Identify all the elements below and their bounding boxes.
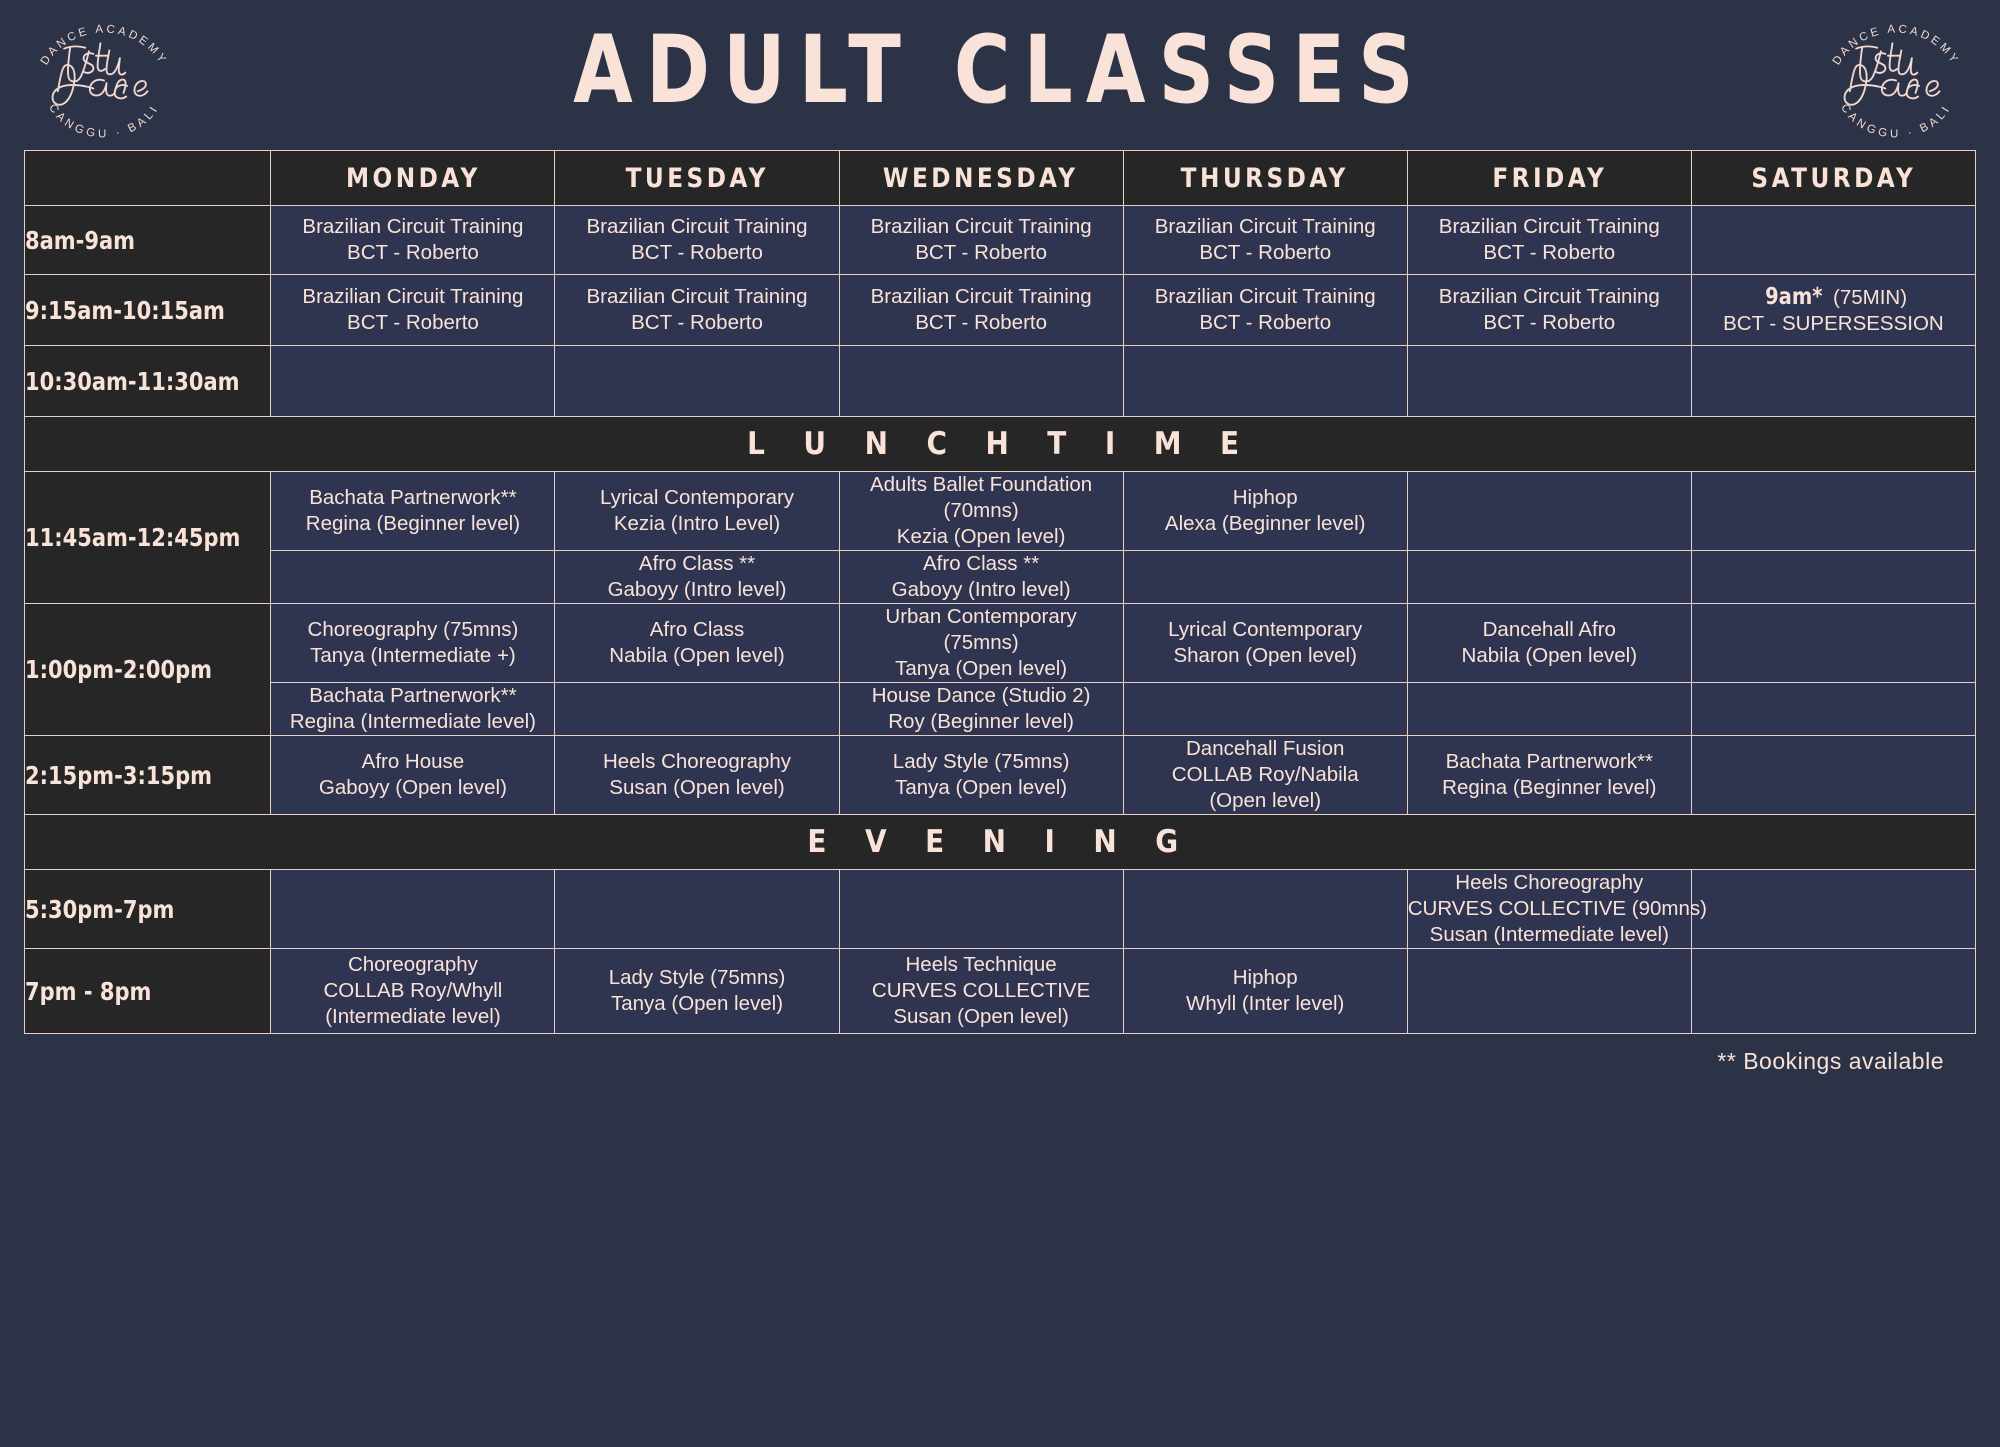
class-cell[interactable]: Lyrical ContemporarySharon (Open level) — [1123, 604, 1407, 683]
class-line: Alexa (Beginner level) — [1124, 511, 1407, 537]
class-cell[interactable]: Lady Style (75mns)Tanya (Open level) — [555, 949, 839, 1034]
time-label: 2:15pm-3:15pm — [25, 761, 212, 790]
class-cell[interactable]: Heels ChoreographySusan (Open level) — [555, 736, 839, 815]
class-cell[interactable]: Heels TechniqueCURVES COLLECTIVESusan (O… — [839, 949, 1123, 1034]
class-line: Sharon (Open level) — [1124, 643, 1407, 669]
svg-text:DANCE ACADEMY: DANCE ACADEMY — [1831, 23, 1962, 67]
class-cell[interactable]: Afro Class **Gaboyy (Intro level) — [555, 551, 839, 604]
class-cell[interactable]: Afro ClassNabila (Open level) — [555, 604, 839, 683]
class-cell-empty[interactable] — [839, 870, 1123, 949]
class-line: Brazilian Circuit Training — [1408, 284, 1691, 310]
class-cell[interactable]: HiphopWhyll (Inter level) — [1123, 949, 1407, 1034]
svg-text:DANCE ACADEMY: DANCE ACADEMY — [39, 23, 170, 67]
time-label: 11:45am-12:45pm — [25, 523, 240, 552]
class-cell[interactable]: Brazilian Circuit TrainingBCT - Roberto — [271, 206, 555, 275]
class-line: BCT - Roberto — [840, 310, 1123, 336]
class-line: Tanya (Open level) — [555, 991, 838, 1017]
class-cell[interactable]: Dancehall AfroNabila (Open level) — [1407, 604, 1691, 683]
class-cell-empty[interactable] — [1691, 949, 1975, 1034]
class-line: CURVES COLLECTIVE (90mns) — [1408, 896, 1691, 922]
class-cell-empty[interactable] — [555, 346, 839, 417]
class-cell[interactable]: Choreography (75mns)Tanya (Intermediate … — [271, 604, 555, 683]
time-label: 5:30pm-7pm — [25, 895, 174, 924]
class-line: (Intermediate level) — [271, 1004, 554, 1030]
schedule-row: 9:15am-10:15amBrazilian Circuit Training… — [25, 275, 1976, 346]
just-dance-logo-icon: DANCE ACADEMY CANGGU · BALI — [1806, 6, 1986, 148]
class-line: Regina (Intermediate level) — [271, 709, 554, 735]
day-header-label: SATURDAY — [1751, 163, 1916, 194]
class-cell[interactable]: House Dance (Studio 2)Roy (Beginner leve… — [839, 683, 1123, 736]
time-label-cell: 7pm - 8pm — [25, 949, 271, 1034]
class-cell[interactable]: Brazilian Circuit TrainingBCT - Roberto — [1123, 206, 1407, 275]
class-line: Kezia (Open level) — [840, 524, 1123, 550]
class-line: Heels Technique — [840, 952, 1123, 978]
schedule-row: 11:45am-12:45pmBachata Partnerwork**Regi… — [25, 472, 1976, 551]
bookings-footnote: ** Bookings available — [24, 1048, 1976, 1075]
class-cell[interactable]: Brazilian Circuit TrainingBCT - Roberto — [271, 275, 555, 346]
class-cell-empty[interactable] — [1123, 346, 1407, 417]
class-cell[interactable]: Brazilian Circuit TrainingBCT - Roberto — [555, 275, 839, 346]
class-line: Brazilian Circuit Training — [555, 214, 838, 240]
schedule-row: 5:30pm-7pmHeels ChoreographyCURVES COLLE… — [25, 870, 1976, 949]
time-label: 10:30am-11:30am — [25, 367, 240, 396]
class-cell[interactable]: Bachata Partnerwork**Regina (Beginner le… — [1407, 736, 1691, 815]
class-cell[interactable]: Urban Contemporary(75mns)Tanya (Open lev… — [839, 604, 1123, 683]
class-cell-empty[interactable] — [1691, 551, 1975, 604]
evening-banner-row: E V E N I N G — [25, 815, 1976, 870]
class-cell[interactable]: Brazilian Circuit TrainingBCT - Roberto — [1123, 275, 1407, 346]
class-line: Tanya (Open level) — [840, 656, 1123, 682]
class-line: Gaboyy (Intro level) — [840, 577, 1123, 603]
class-cell-empty[interactable] — [1407, 472, 1691, 551]
class-cell-empty[interactable] — [1691, 870, 1975, 949]
class-line: Nabila (Open level) — [1408, 643, 1691, 669]
class-line: Lady Style (75mns) — [555, 965, 838, 991]
time-label-cell: 9:15am-10:15am — [25, 275, 271, 346]
class-line: Tanya (Open level) — [840, 775, 1123, 801]
time-label: 8am-9am — [25, 226, 135, 255]
class-line: Brazilian Circuit Training — [840, 214, 1123, 240]
class-cell[interactable]: Lyrical ContemporaryKezia (Intro Level) — [555, 472, 839, 551]
class-line: BCT - SUPERSESSION — [1692, 311, 1975, 337]
day-header-label: WEDNESDAY — [883, 163, 1079, 194]
class-cell[interactable]: 9am* (75MIN)BCT - SUPERSESSION — [1691, 275, 1975, 346]
class-line: BCT - Roberto — [271, 310, 554, 336]
class-schedule-table: MONDAYTUESDAYWEDNESDAYTHURSDAYFRIDAYSATU… — [24, 150, 1976, 1034]
class-cell[interactable]: Brazilian Circuit TrainingBCT - Roberto — [839, 206, 1123, 275]
class-line: (Open level) — [1124, 788, 1407, 814]
day-header-saturday: SATURDAY — [1691, 151, 1975, 206]
class-line: Gaboyy (Intro level) — [555, 577, 838, 603]
day-header-label: MONDAY — [346, 163, 481, 194]
class-cell[interactable]: Lady Style (75mns)Tanya (Open level) — [839, 736, 1123, 815]
page-header: DANCE ACADEMY CANGGU · BALI ADULT CLASSE… — [0, 0, 2000, 150]
class-cell-empty[interactable] — [1691, 346, 1975, 417]
class-cell-empty[interactable] — [1407, 551, 1691, 604]
lunch-banner-label: L U N C H T I M E — [747, 426, 1253, 462]
class-line: Kezia (Intro Level) — [555, 511, 838, 537]
time-label-cell: 10:30am-11:30am — [25, 346, 271, 417]
class-cell-empty[interactable] — [271, 551, 555, 604]
class-line: Heels Choreography — [555, 749, 838, 775]
class-line: Choreography (75mns) — [271, 617, 554, 643]
class-line: BCT - Roberto — [1408, 310, 1691, 336]
day-header-friday: FRIDAY — [1407, 151, 1691, 206]
class-cell[interactable]: Adults Ballet Foundation(70mns)Kezia (Op… — [839, 472, 1123, 551]
class-line: Brazilian Circuit Training — [271, 284, 554, 310]
class-line: (70mns) — [840, 498, 1123, 524]
class-cell-empty[interactable] — [1691, 206, 1975, 275]
time-label-cell: 5:30pm-7pm — [25, 870, 271, 949]
class-line: Regina (Beginner level) — [1408, 775, 1691, 801]
class-line: Bachata Partnerwork** — [271, 683, 554, 709]
class-line: BCT - Roberto — [1408, 240, 1691, 266]
class-line: Roy (Beginner level) — [840, 709, 1123, 735]
class-line: BCT - Roberto — [1124, 240, 1407, 266]
class-cell-empty[interactable] — [1691, 472, 1975, 551]
time-label: 1:00pm-2:00pm — [25, 655, 212, 684]
schedule-row: 1:00pm-2:00pmChoreography (75mns)Tanya (… — [25, 604, 1976, 683]
saturday-special-time: 9am* — [1765, 284, 1822, 310]
day-header-label: THURSDAY — [1181, 163, 1349, 194]
class-cell[interactable]: Brazilian Circuit TrainingBCT - Roberto — [555, 206, 839, 275]
class-line: Bachata Partnerwork** — [271, 485, 554, 511]
class-cell[interactable]: Afro Class **Gaboyy (Intro level) — [839, 551, 1123, 604]
schedule-row: Afro Class **Gaboyy (Intro level)Afro Cl… — [25, 551, 1976, 604]
time-label-cell: 11:45am-12:45pm — [25, 472, 271, 604]
schedule-row: Bachata Partnerwork**Regina (Intermediat… — [25, 683, 1976, 736]
class-line: BCT - Roberto — [555, 240, 838, 266]
class-cell[interactable]: Brazilian Circuit TrainingBCT - Roberto — [839, 275, 1123, 346]
schedule-container: MONDAYTUESDAYWEDNESDAYTHURSDAYFRIDAYSATU… — [0, 150, 2000, 1075]
class-cell-empty[interactable] — [1407, 683, 1691, 736]
class-cell-empty[interactable] — [1407, 346, 1691, 417]
class-line: Brazilian Circuit Training — [555, 284, 838, 310]
schedule-row: 7pm - 8pmChoreographyCOLLAB Roy/Whyll(In… — [25, 949, 1976, 1034]
class-line: Afro Class ** — [555, 551, 838, 577]
class-line: Gaboyy (Open level) — [271, 775, 554, 801]
class-line: Brazilian Circuit Training — [271, 214, 554, 240]
class-line: Lyrical Contemporary — [1124, 617, 1407, 643]
class-line: Regina (Beginner level) — [271, 511, 554, 537]
day-header-wednesday: WEDNESDAY — [839, 151, 1123, 206]
class-line: (75mns) — [840, 630, 1123, 656]
time-label: 9:15am-10:15am — [25, 296, 225, 325]
class-line: Afro House — [271, 749, 554, 775]
class-cell-empty[interactable] — [271, 870, 555, 949]
time-label-cell: 1:00pm-2:00pm — [25, 604, 271, 736]
class-cell[interactable]: Dancehall FusionCOLLAB Roy/Nabila(Open l… — [1123, 736, 1407, 815]
lunch-time-banner: L U N C H T I M E — [25, 417, 1976, 472]
class-cell[interactable]: Heels ChoreographyCURVES COLLECTIVE (90m… — [1407, 870, 1691, 949]
class-cell[interactable]: Afro HouseGaboyy (Open level) — [271, 736, 555, 815]
class-cell-empty[interactable] — [555, 870, 839, 949]
class-line: Susan (Open level) — [555, 775, 838, 801]
class-cell-empty[interactable] — [1691, 604, 1975, 683]
class-line: Afro Class — [555, 617, 838, 643]
svg-text:CANGGU · BALI: CANGGU · BALI — [46, 102, 162, 140]
class-line: Susan (Intermediate level) — [1408, 922, 1691, 948]
class-line: Brazilian Circuit Training — [1124, 284, 1407, 310]
class-line: CURVES COLLECTIVE — [840, 978, 1123, 1004]
schedule-row: 10:30am-11:30am — [25, 346, 1976, 417]
day-header-thursday: THURSDAY — [1123, 151, 1407, 206]
time-label-cell: 2:15pm-3:15pm — [25, 736, 271, 815]
class-line: Urban Contemporary — [840, 604, 1123, 630]
evening-banner-label: E V E N I N G — [807, 824, 1192, 860]
class-line: BCT - Roberto — [271, 240, 554, 266]
class-line: COLLAB Roy/Whyll — [271, 978, 554, 1004]
class-cell-empty[interactable] — [1123, 870, 1407, 949]
time-label-cell: 8am-9am — [25, 206, 271, 275]
class-line: 9am* (75MIN) — [1692, 284, 1975, 311]
class-line: Brazilian Circuit Training — [1124, 214, 1407, 240]
class-line: Brazilian Circuit Training — [1408, 214, 1691, 240]
class-line: Heels Choreography — [1408, 870, 1691, 896]
class-cell-empty[interactable] — [839, 346, 1123, 417]
logo-left: DANCE ACADEMY CANGGU · BALI — [14, 6, 194, 148]
class-line: Lady Style (75mns) — [840, 749, 1123, 775]
class-line: Hiphop — [1124, 965, 1407, 991]
class-line: BCT - Roberto — [840, 240, 1123, 266]
day-header-label: FRIDAY — [1492, 163, 1607, 194]
class-line: Dancehall Fusion — [1124, 736, 1407, 762]
class-line: Lyrical Contemporary — [555, 485, 838, 511]
svg-text:CANGGU · BALI: CANGGU · BALI — [1838, 102, 1954, 140]
day-header-tuesday: TUESDAY — [555, 151, 839, 206]
class-cell[interactable]: Bachata Partnerwork**Regina (Beginner le… — [271, 472, 555, 551]
class-line: BCT - Roberto — [555, 310, 838, 336]
day-header-row: MONDAYTUESDAYWEDNESDAYTHURSDAYFRIDAYSATU… — [25, 151, 1976, 206]
page-title: ADULT CLASSES — [180, 16, 1820, 126]
evening-banner: E V E N I N G — [25, 815, 1976, 870]
class-line: Susan (Open level) — [840, 1004, 1123, 1030]
class-line: BCT - Roberto — [1124, 310, 1407, 336]
class-line: Bachata Partnerwork** — [1408, 749, 1691, 775]
class-cell[interactable]: Brazilian Circuit TrainingBCT - Roberto — [1407, 206, 1691, 275]
class-cell[interactable]: Brazilian Circuit TrainingBCT - Roberto — [1407, 275, 1691, 346]
class-cell[interactable]: Bachata Partnerwork**Regina (Intermediat… — [271, 683, 555, 736]
class-cell-empty[interactable] — [555, 683, 839, 736]
class-line: Tanya (Intermediate +) — [271, 643, 554, 669]
class-line: Choreography — [271, 952, 554, 978]
class-line: House Dance (Studio 2) — [840, 683, 1123, 709]
just-dance-logo-icon: DANCE ACADEMY CANGGU · BALI — [14, 6, 194, 148]
class-cell-empty[interactable] — [1691, 736, 1975, 815]
class-cell-empty[interactable] — [271, 346, 555, 417]
class-cell-empty[interactable] — [1407, 949, 1691, 1034]
class-line: Afro Class ** — [840, 551, 1123, 577]
day-header-monday: MONDAY — [271, 151, 555, 206]
lunch-banner-row: L U N C H T I M E — [25, 417, 1976, 472]
logo-right: DANCE ACADEMY CANGGU · BALI — [1806, 6, 1986, 148]
class-cell-empty[interactable] — [1123, 683, 1407, 736]
class-cell[interactable]: HiphopAlexa (Beginner level) — [1123, 472, 1407, 551]
class-line: COLLAB Roy/Nabila — [1124, 762, 1407, 788]
class-line: Adults Ballet Foundation — [840, 472, 1123, 498]
day-header-label: TUESDAY — [625, 163, 768, 194]
class-cell[interactable]: ChoreographyCOLLAB Roy/Whyll(Intermediat… — [271, 949, 555, 1034]
time-label: 7pm - 8pm — [25, 977, 151, 1006]
class-line: Nabila (Open level) — [555, 643, 838, 669]
class-line: Dancehall Afro — [1408, 617, 1691, 643]
saturday-special-duration: (75MIN) — [1833, 286, 1907, 309]
class-cell-empty[interactable] — [1123, 551, 1407, 604]
class-line: Hiphop — [1124, 485, 1407, 511]
schedule-row: 2:15pm-3:15pmAfro HouseGaboyy (Open leve… — [25, 736, 1976, 815]
table-corner-cell — [25, 151, 271, 206]
class-line: Whyll (Inter level) — [1124, 991, 1407, 1017]
schedule-row: 8am-9amBrazilian Circuit TrainingBCT - R… — [25, 206, 1976, 275]
class-cell-empty[interactable] — [1691, 683, 1975, 736]
class-line: Brazilian Circuit Training — [840, 284, 1123, 310]
